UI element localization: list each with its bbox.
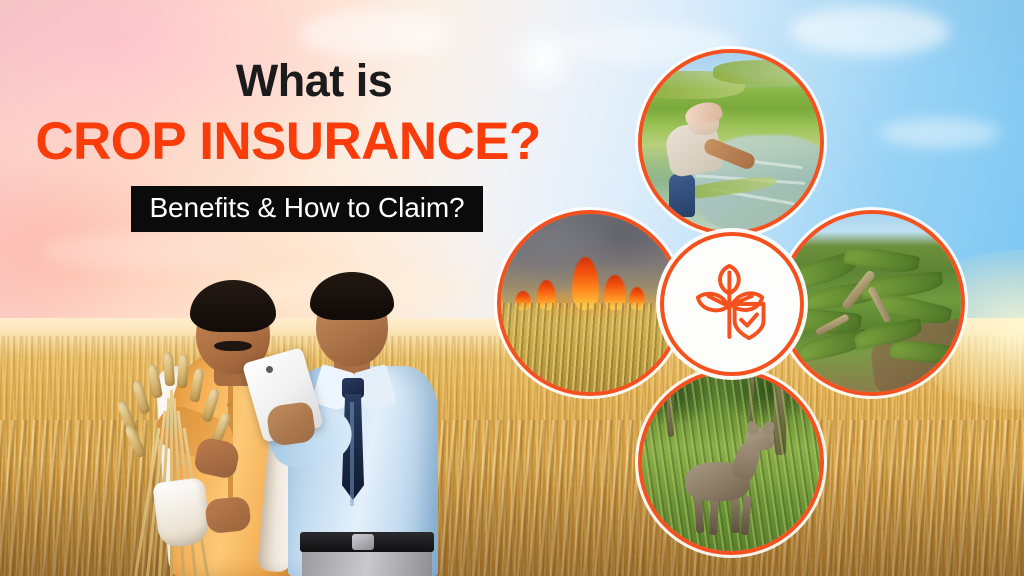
farmer-hair [190,280,276,332]
agent-hand [265,401,316,447]
subtitle-badge: Benefits & How to Claim? [131,186,482,232]
subtitle-wrap: Benefits & How to Claim? [0,186,560,232]
agent-shirt-placket [350,402,354,506]
crop-insurance-banner: What is CROP INSURANCE? Benefits & How t… [0,0,1024,576]
agent-belt-buckle [352,534,374,550]
wildlife-damage-image [642,373,820,551]
fire-damage-image [501,214,679,392]
foreground-figures [120,262,450,576]
agent-trousers [302,550,432,576]
kicker-text: What is [0,58,560,104]
flood-damage-image [642,53,820,231]
center-badge[interactable] [660,232,804,376]
headline-block: What is CROP INSURANCE? Benefits & How t… [0,58,560,232]
farmer-hand-lower [204,496,251,534]
crop-shield-icon [690,262,774,346]
petal-fire-damage[interactable] [497,210,683,396]
page-title: CROP INSURANCE? [0,114,560,169]
cloud [300,10,450,58]
petal-wildlife-damage[interactable] [638,369,824,555]
storm-damage-image [783,214,961,392]
petal-storm-damage[interactable] [779,210,965,396]
petal-flood-damage[interactable] [638,49,824,235]
agent-hair [310,272,394,320]
